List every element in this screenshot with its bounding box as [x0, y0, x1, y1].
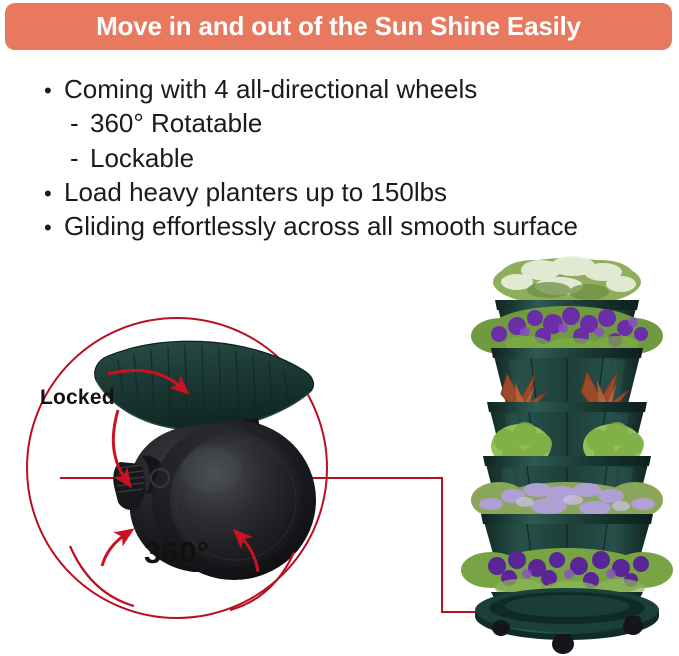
planter-base-tray: [475, 588, 659, 654]
caster-wheel-callout: [22, 314, 332, 624]
locked-label: Locked: [40, 386, 115, 410]
rotation-degrees-label: 360°: [144, 535, 209, 571]
tier-purple-petunia: [471, 306, 663, 408]
rotation-arrow-left-icon: [102, 534, 126, 566]
stacked-planter-tower: [455, 256, 679, 656]
